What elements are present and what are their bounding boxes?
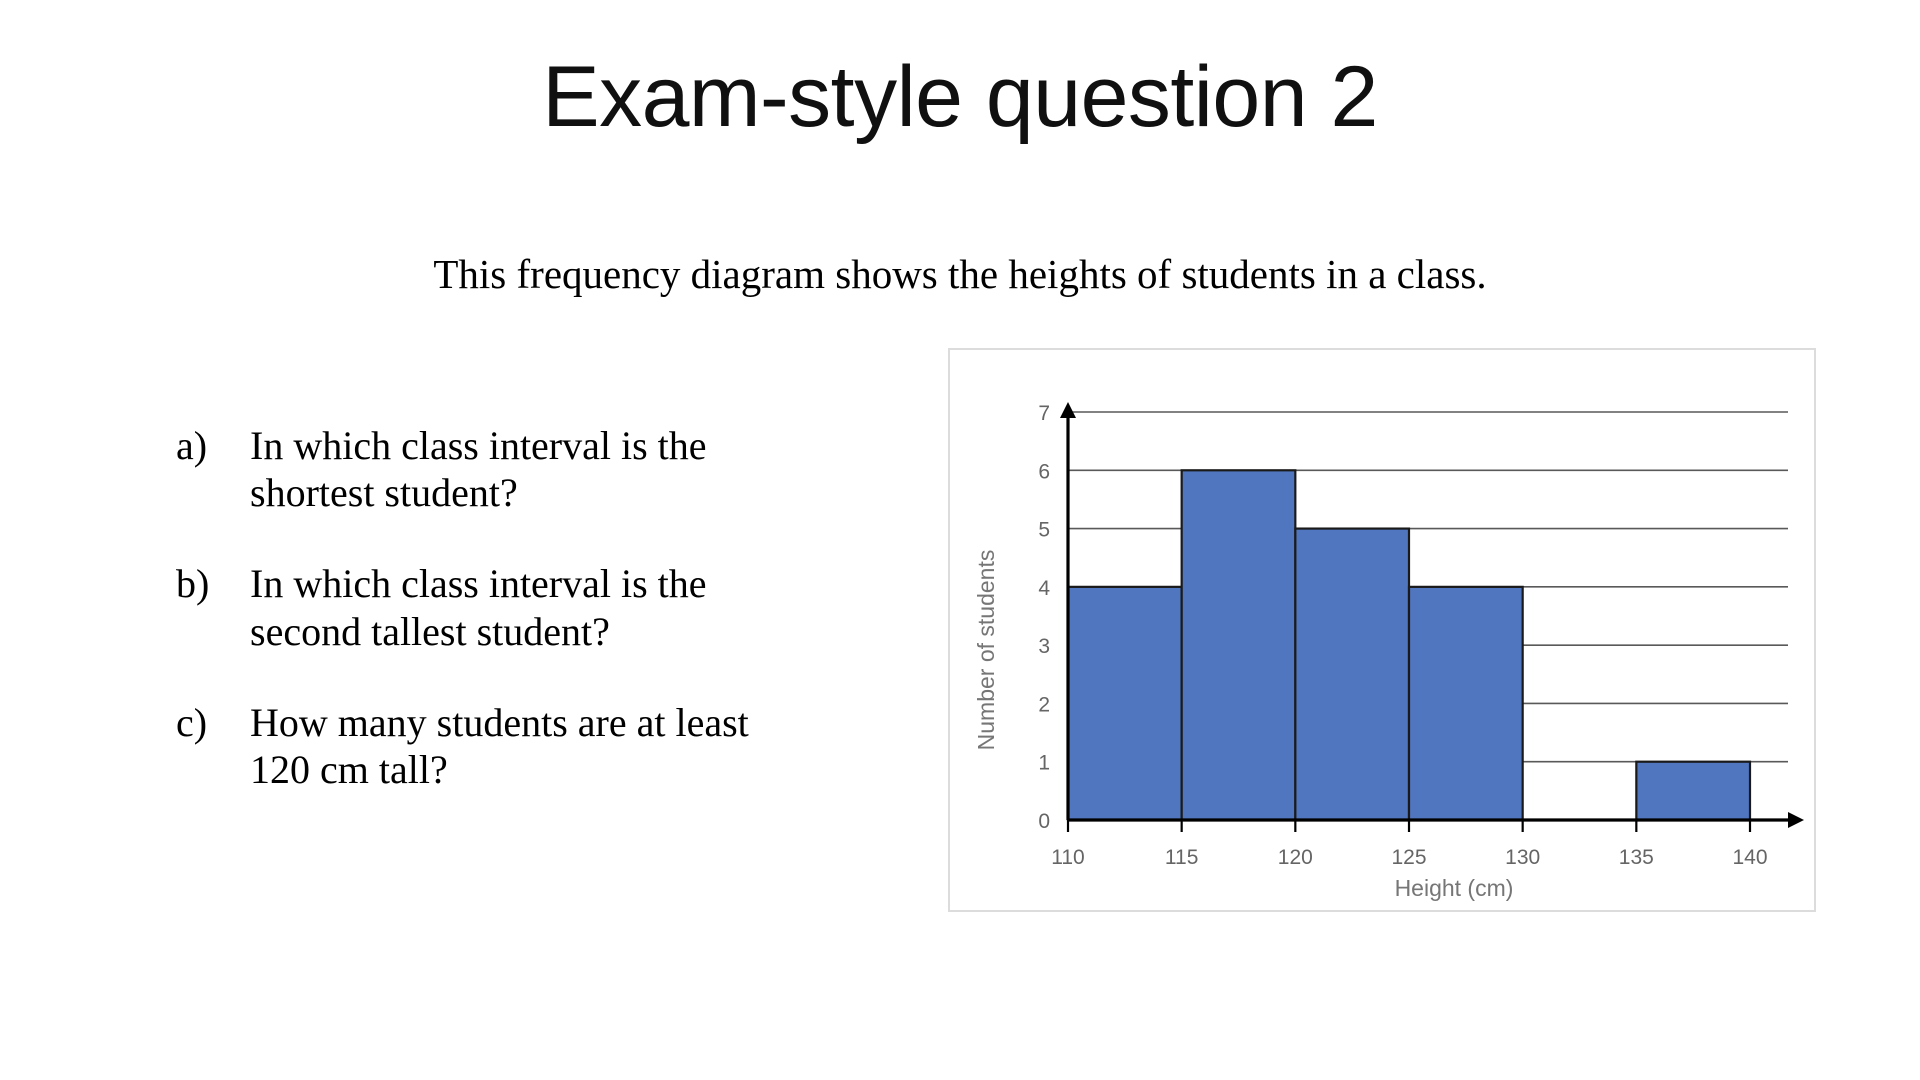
y-tick-label: 6	[1038, 460, 1050, 483]
frequency-diagram-chart: 110115120125130135140 01234567 Height (c…	[948, 348, 1816, 912]
question-marker-a: a)	[176, 422, 250, 469]
x-axis-arrow-icon	[1788, 812, 1804, 828]
question-text-a: In which class interval is the shortest …	[250, 422, 936, 516]
y-tick-label: 4	[1038, 577, 1050, 600]
x-tick-label: 125	[1391, 846, 1426, 869]
list-item: c) How many students are at least 120 cm…	[176, 699, 936, 793]
bar-120-125	[1295, 529, 1409, 820]
question-text-c: How many students are at least 120 cm ta…	[250, 699, 936, 793]
bar-135-140	[1636, 762, 1750, 820]
chart-canvas: 110115120125130135140 01234567 Height (c…	[950, 350, 1814, 910]
y-tick-label: 2	[1038, 693, 1050, 716]
chart-x-tick-labels: 110115120125130135140	[1051, 820, 1767, 869]
y-tick-label: 1	[1038, 752, 1050, 775]
question-marker-b: b)	[176, 560, 250, 607]
y-tick-label: 7	[1038, 402, 1050, 425]
y-tick-label: 3	[1038, 635, 1050, 658]
question-marker-c: c)	[176, 699, 250, 746]
x-tick-label: 110	[1051, 846, 1084, 869]
chart-y-tick-labels: 01234567	[1038, 402, 1050, 833]
x-axis-title: Height (cm)	[1395, 875, 1514, 901]
lead-sentence: This frequency diagram shows the heights…	[180, 250, 1740, 299]
bar-115-120	[1182, 470, 1296, 820]
list-item: b) In which class interval is the second…	[176, 560, 936, 654]
question-list: a) In which class interval is the shorte…	[176, 422, 936, 837]
x-tick-label: 120	[1278, 846, 1313, 869]
y-axis-arrow-icon	[1060, 402, 1076, 418]
list-item: a) In which class interval is the shorte…	[176, 422, 936, 516]
x-tick-label: 135	[1619, 846, 1654, 869]
bar-110-115	[1068, 587, 1182, 820]
question-text-b: In which class interval is the second ta…	[250, 560, 936, 654]
x-tick-label: 115	[1165, 846, 1198, 869]
x-tick-label: 130	[1505, 846, 1540, 869]
page-title: Exam-style question 2	[0, 52, 1920, 142]
y-tick-label: 0	[1038, 810, 1050, 833]
bar-125-130	[1409, 587, 1523, 820]
y-tick-label: 5	[1038, 519, 1050, 542]
y-axis-title: Number of students	[973, 550, 999, 751]
x-tick-label: 140	[1732, 846, 1767, 869]
